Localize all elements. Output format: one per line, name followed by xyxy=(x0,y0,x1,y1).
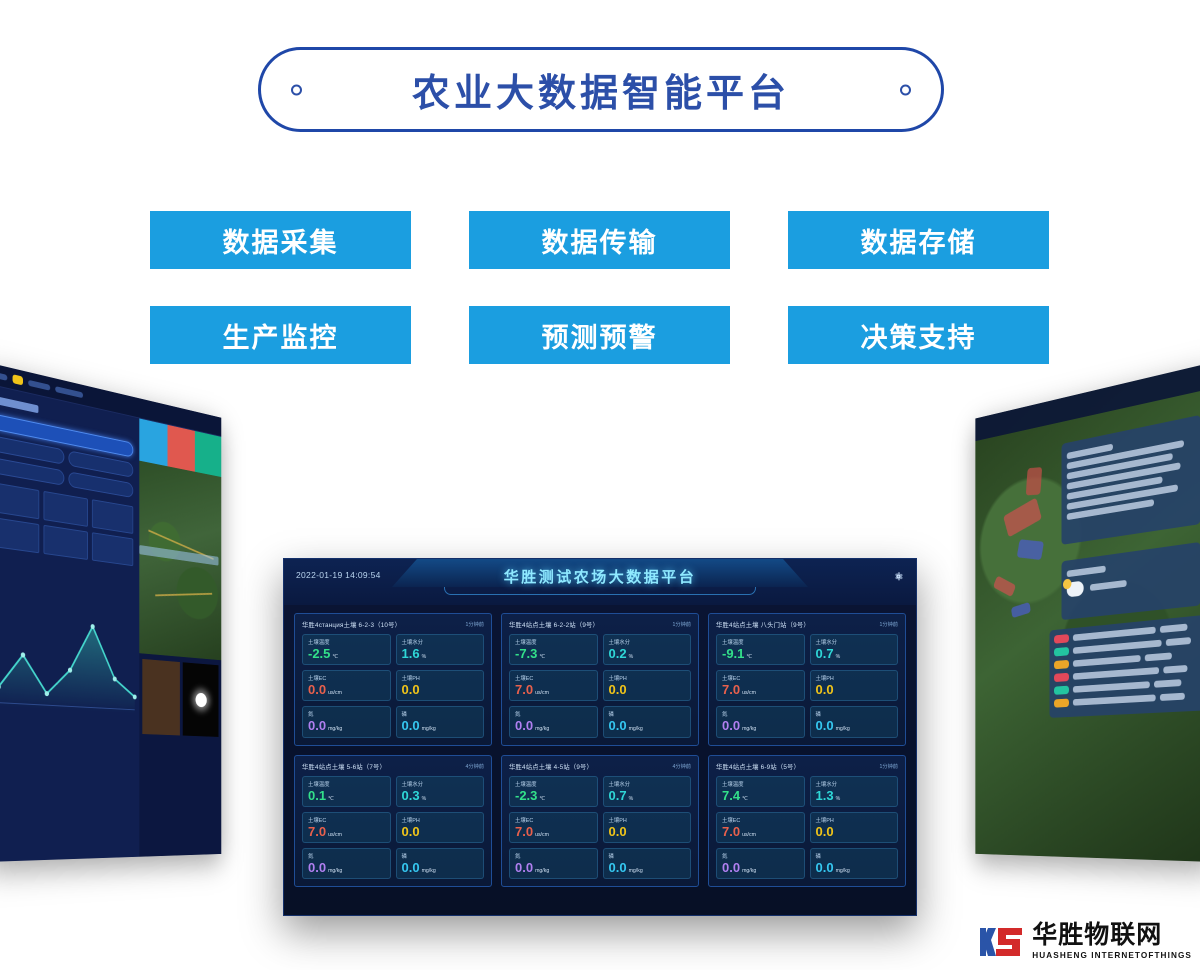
sensor-card[interactable]: 华胜4站点土壤 4-5站（9号） 4分钟前 土壤温度 -2.3℃ 土壤水分 0.… xyxy=(501,755,699,888)
metric-value: 0.0 xyxy=(816,861,834,874)
sensor-card-header: 华胜4站点土壤 八头门站（9号） 1分钟前 xyxy=(716,620,898,629)
metric-soil-temperature: 土壤温度 -9.1℃ xyxy=(716,634,805,665)
metric-soil-temperature: 土壤温度 7.4℃ xyxy=(716,776,805,807)
metric-soil-ph: 土壤PH 0.0 xyxy=(810,812,899,843)
metric-value: 0.1 xyxy=(308,789,326,802)
sensor-card-name: 华胜4站点土壤 4-5站（9号） xyxy=(509,762,593,771)
metric-value: -2.3 xyxy=(515,789,537,802)
metric-value: -2.5 xyxy=(308,647,330,660)
metric-phosphorus: 磷 0.0mg/kg xyxy=(603,848,692,879)
sensor-metrics: 土壤温度 -7.3℃ 土壤水分 0.2% 土壤EC 7.0us/cm 土壤P xyxy=(509,634,691,738)
gear-icon[interactable] xyxy=(893,571,904,582)
camera-thumb[interactable] xyxy=(183,662,219,737)
metric-value: -7.3 xyxy=(515,647,537,660)
sensor-card-header: 华胜4站点土壤 4-5站（9号） 4分钟前 xyxy=(509,762,691,771)
map-plot-parcel xyxy=(1026,467,1043,496)
metric-value: 0.0 xyxy=(722,719,740,732)
trend-chart-svg xyxy=(0,591,138,717)
sensor-card-time: 4分钟前 xyxy=(673,763,691,770)
metric-value: 7.0 xyxy=(722,825,740,838)
metric-phosphorus: 磷 0.0mg/kg xyxy=(810,706,899,737)
metric-unit: mg/kg xyxy=(535,727,549,732)
metric-unit: % xyxy=(629,655,634,660)
metric-soil-ec: 土壤EC 7.0us/cm xyxy=(716,670,805,701)
left-kpi-red xyxy=(168,425,195,472)
metric-value: 0.7 xyxy=(816,647,834,660)
screens-composition: 2022-01-19 14:09:54 华胜测试农场大数据平台 华胜4станц… xyxy=(0,352,1200,970)
metric-label: 氮 xyxy=(515,710,592,718)
sensor-card[interactable]: 华胜4站点土壤 6-9站（5号） 1分钟前 土壤温度 7.4℃ 土壤水分 1.3… xyxy=(708,755,906,888)
metric-label: 土壤PH xyxy=(609,674,686,682)
metric-label: 磷 xyxy=(402,852,479,860)
metric-unit: mg/kg xyxy=(535,869,549,874)
metric-value: 7.0 xyxy=(515,825,533,838)
metric-unit: ℃ xyxy=(539,655,545,660)
metric-unit: % xyxy=(422,797,427,802)
metric-unit: us/cm xyxy=(328,691,342,696)
left-screen-body xyxy=(0,384,221,862)
right-screen-alarm-list-card xyxy=(1049,615,1200,718)
sensor-card[interactable]: 华胜4станция土壤 6-2-3（10号） 1分钟前 土壤温度 -2.5℃ … xyxy=(294,613,492,746)
metric-unit: us/cm xyxy=(535,691,549,696)
metric-label: 磷 xyxy=(609,852,686,860)
metric-soil-temperature: 土壤温度 0.1℃ xyxy=(302,776,391,807)
dashboard-header: 2022-01-19 14:09:54 华胜测试农场大数据平台 xyxy=(284,559,916,605)
left-topbar-chip xyxy=(0,371,7,380)
sensor-card[interactable]: 华胜4站点土壤 5-6站（7号） 4分钟前 土壤温度 0.1℃ 土壤水分 0.3… xyxy=(294,755,492,888)
metric-soil-moisture: 土壤水分 0.7% xyxy=(810,634,899,665)
metric-soil-ph: 土壤PH 0.0 xyxy=(396,670,485,701)
metric-soil-moisture: 土壤水分 0.3% xyxy=(396,776,485,807)
sensor-card[interactable]: 华胜4站点土壤 八头门站（9号） 1分钟前 土壤温度 -9.1℃ 土壤水分 0.… xyxy=(708,613,906,746)
sensor-card-time: 4分钟前 xyxy=(466,763,484,770)
logo-text-block: 华胜物联网 HUASHENG INTERNETOFTHINGS xyxy=(1032,923,1192,960)
metric-soil-moisture: 土壤水分 0.7% xyxy=(603,776,692,807)
metric-value: 0.0 xyxy=(515,719,533,732)
metric-unit: mg/kg xyxy=(742,727,756,732)
metric-label: 氮 xyxy=(308,852,385,860)
camera-thumb[interactable] xyxy=(142,659,180,735)
metric-soil-ec: 土壤EC 7.0us/cm xyxy=(509,670,598,701)
metric-soil-ph: 土壤PH 0.0 xyxy=(603,670,692,701)
metric-unit: mg/kg xyxy=(836,869,850,874)
metric-soil-ec: 土壤EC 7.0us/cm xyxy=(509,812,598,843)
metric-unit: mg/kg xyxy=(328,869,342,874)
left-topbar-chip xyxy=(28,379,50,390)
metric-phosphorus: 磷 0.0mg/kg xyxy=(396,848,485,879)
metric-value: 1.3 xyxy=(816,789,834,802)
metric-soil-moisture: 土壤水分 1.6% xyxy=(396,634,485,665)
left-screen-sidepanel xyxy=(0,384,139,862)
left-topbar-chip xyxy=(55,386,83,398)
left-topbar-highlight xyxy=(13,374,23,385)
metric-unit: mg/kg xyxy=(629,727,643,732)
huasheng-logo-icon xyxy=(978,924,1024,960)
metric-label: 氮 xyxy=(515,852,592,860)
metric-phosphorus: 磷 0.0mg/kg xyxy=(810,848,899,879)
metric-label: 土壤温度 xyxy=(308,780,385,788)
metric-unit: mg/kg xyxy=(422,869,436,874)
weather-cloud-sun-icon xyxy=(1067,581,1084,598)
left-screen-map[interactable] xyxy=(139,461,221,661)
metric-value: 0.0 xyxy=(609,825,627,838)
metric-label: 土壤水分 xyxy=(816,780,893,788)
metric-soil-moisture: 土壤水分 0.2% xyxy=(603,634,692,665)
map-plot-parcel xyxy=(1017,539,1044,560)
sensor-card-header: 华胜4站点土壤 6-9站（5号） 1分钟前 xyxy=(716,762,898,771)
metric-soil-ec: 土壤EC 0.0us/cm xyxy=(302,670,391,701)
metric-label: 土壤温度 xyxy=(722,780,799,788)
sensor-metrics: 土壤温度 -9.1℃ 土壤水分 0.7% 土壤EC 7.0us/cm 土壤P xyxy=(716,634,898,738)
metric-unit: us/cm xyxy=(535,833,549,838)
metric-value: 7.4 xyxy=(722,789,740,802)
metric-value: 0.0 xyxy=(816,825,834,838)
metric-value: 1.6 xyxy=(402,647,420,660)
metric-unit: mg/kg xyxy=(328,727,342,732)
metric-soil-ph: 土壤PH 0.0 xyxy=(396,812,485,843)
metric-soil-ec: 土壤EC 7.0us/cm xyxy=(716,812,805,843)
sensor-metrics: 土壤温度 0.1℃ 土壤水分 0.3% 土壤EC 7.0us/cm 土壤PH xyxy=(302,776,484,880)
metric-unit: % xyxy=(836,655,841,660)
metric-value: 0.0 xyxy=(402,861,420,874)
metric-soil-ph: 土壤PH 0.0 xyxy=(810,670,899,701)
metric-unit: % xyxy=(629,797,634,802)
metric-value: 0.3 xyxy=(402,789,420,802)
metric-value: 0.0 xyxy=(816,683,834,696)
left-kpi-green xyxy=(195,431,221,477)
left-kpi-blue xyxy=(139,418,167,466)
metric-value: 0.0 xyxy=(609,861,627,874)
metric-value: 0.0 xyxy=(402,719,420,732)
metric-value: 0.0 xyxy=(816,719,834,732)
left-panel-tile[interactable] xyxy=(44,525,88,560)
metric-unit: ℃ xyxy=(746,655,752,660)
metric-label: 土壤水分 xyxy=(402,780,479,788)
sensor-metrics: 土壤温度 -2.5℃ 土壤水分 1.6% 土壤EC 0.0us/cm 土壤P xyxy=(302,634,484,738)
metric-unit: us/cm xyxy=(328,833,342,838)
metric-label: 土壤水分 xyxy=(402,638,479,646)
metric-value: 0.0 xyxy=(308,719,326,732)
metric-phosphorus: 磷 0.0mg/kg xyxy=(396,706,485,737)
sensor-metrics: 土壤温度 7.4℃ 土壤水分 1.3% 土壤EC 7.0us/cm 土壤PH xyxy=(716,776,898,880)
pill-dot-right-icon xyxy=(900,84,911,95)
left-panel-tile[interactable] xyxy=(0,482,40,519)
feature-row-1: 数据采集 数据传输 数据存储 xyxy=(150,211,1050,269)
left-panel-tile[interactable] xyxy=(0,517,40,553)
logo-text-en: HUASHENG INTERNETOFTHINGS xyxy=(1032,951,1192,960)
metric-value: 0.7 xyxy=(609,789,627,802)
metric-value: 0.0 xyxy=(402,825,420,838)
metric-label: 土壤PH xyxy=(816,674,893,682)
map-plot-parcel xyxy=(1003,497,1042,537)
metric-unit: ℃ xyxy=(332,655,338,660)
metric-value: 0.0 xyxy=(722,861,740,874)
logo-text-cn: 华胜物联网 xyxy=(1032,923,1192,948)
dashboard-header-underline xyxy=(444,587,756,595)
left-map-label-banner xyxy=(139,545,218,566)
sensor-card[interactable]: 华胜4站点土壤 6-2-2站（9号） 1分钟前 土壤温度 -7.3℃ 土壤水分 … xyxy=(501,613,699,746)
metric-label: 土壤EC xyxy=(722,816,799,824)
sensor-card-header: 华胜4站点土壤 5-6站（7号） 4分钟前 xyxy=(302,762,484,771)
metric-unit: us/cm xyxy=(742,691,756,696)
metric-label: 土壤水分 xyxy=(609,780,686,788)
metric-nitrogen: 氮 0.0mg/kg xyxy=(509,706,598,737)
sensor-card-time: 1分钟前 xyxy=(673,621,691,628)
metric-value: 0.2 xyxy=(609,647,627,660)
pill-dot-left-icon xyxy=(291,84,302,95)
map-plot-parcel xyxy=(993,575,1016,597)
metric-unit: ℃ xyxy=(539,797,545,802)
metric-value: 0.0 xyxy=(515,861,533,874)
metric-unit: mg/kg xyxy=(836,727,850,732)
left-camera-strip xyxy=(139,659,221,741)
map-road xyxy=(155,592,212,595)
sensor-card-name: 华胜4станция土壤 6-2-3（10号） xyxy=(302,620,401,629)
metric-label: 土壤温度 xyxy=(722,638,799,646)
left-screen-mockup xyxy=(0,362,221,862)
left-screen-main xyxy=(139,418,221,856)
metric-label: 土壤EC xyxy=(722,674,799,682)
metric-unit: us/cm xyxy=(742,833,756,838)
metric-label: 土壤EC xyxy=(515,674,592,682)
metric-soil-ph: 土壤PH 0.0 xyxy=(603,812,692,843)
metric-label: 土壤水分 xyxy=(816,638,893,646)
metric-value: 0.0 xyxy=(308,861,326,874)
left-panel-heading xyxy=(0,396,38,414)
metric-label: 土壤PH xyxy=(402,816,479,824)
center-dashboard: 2022-01-19 14:09:54 华胜测试农场大数据平台 华胜4станц… xyxy=(283,558,917,916)
sensor-card-time: 1分钟前 xyxy=(880,763,898,770)
metric-label: 氮 xyxy=(308,710,385,718)
metric-unit: % xyxy=(422,655,427,660)
metric-label: 磷 xyxy=(609,710,686,718)
feature-button-data-collection[interactable]: 数据采集 xyxy=(150,211,411,269)
feature-button-data-transmission[interactable]: 数据传输 xyxy=(469,211,730,269)
metric-phosphorus: 磷 0.0mg/kg xyxy=(603,706,692,737)
metric-nitrogen: 氮 0.0mg/kg xyxy=(716,706,805,737)
metric-unit: mg/kg xyxy=(742,869,756,874)
brand-logo: 华胜物联网 HUASHENG INTERNETOFTHINGS xyxy=(978,923,1192,960)
metric-label: 氮 xyxy=(722,710,799,718)
left-panel-tile-grid xyxy=(0,482,133,566)
sensor-card-name: 华胜4站点土壤 八头门站（9号） xyxy=(716,620,810,629)
metric-label: 磷 xyxy=(816,852,893,860)
metric-label: 土壤EC xyxy=(308,674,385,682)
metric-label: 土壤温度 xyxy=(515,638,592,646)
sensor-card-time: 1分钟前 xyxy=(466,621,484,628)
metric-value: 7.0 xyxy=(722,683,740,696)
metric-nitrogen: 氮 0.0mg/kg xyxy=(302,848,391,879)
metric-unit: mg/kg xyxy=(629,869,643,874)
sensor-card-header: 华胜4станция土壤 6-2-3（10号） 1分钟前 xyxy=(302,620,484,629)
sensor-metrics: 土壤温度 -2.3℃ 土壤水分 0.7% 土壤EC 7.0us/cm 土壤P xyxy=(509,776,691,880)
right-screen-mockup xyxy=(975,362,1200,862)
metric-unit: mg/kg xyxy=(422,727,436,732)
metric-label: 土壤PH xyxy=(609,816,686,824)
metric-unit: ℃ xyxy=(742,797,748,802)
metric-soil-temperature: 土壤温度 -2.5℃ xyxy=(302,634,391,665)
metric-unit: % xyxy=(836,797,841,802)
metric-value: -9.1 xyxy=(722,647,744,660)
metric-soil-temperature: 土壤温度 -2.3℃ xyxy=(509,776,598,807)
metric-value: 0.0 xyxy=(308,683,326,696)
metric-label: 磷 xyxy=(402,710,479,718)
left-panel-tile[interactable] xyxy=(44,491,88,527)
metric-label: 磷 xyxy=(816,710,893,718)
metric-label: 氮 xyxy=(722,852,799,860)
page-title: 农业大数据智能平台 xyxy=(412,62,790,117)
metric-label: 土壤水分 xyxy=(609,638,686,646)
metric-nitrogen: 氮 0.0mg/kg xyxy=(302,706,391,737)
map-plot-parcel xyxy=(1011,602,1031,618)
sensor-card-name: 华胜4站点土壤 5-6站（7号） xyxy=(302,762,386,771)
metric-label: 土壤EC xyxy=(515,816,592,824)
metric-value: 0.0 xyxy=(609,683,627,696)
metric-soil-moisture: 土壤水分 1.3% xyxy=(810,776,899,807)
metric-value: 7.0 xyxy=(515,683,533,696)
metric-value: 0.0 xyxy=(402,683,420,696)
sensor-card-name: 华胜4站点土壤 6-2-2站（9号） xyxy=(509,620,599,629)
metric-label: 土壤温度 xyxy=(308,638,385,646)
metric-soil-temperature: 土壤温度 -7.3℃ xyxy=(509,634,598,665)
metric-nitrogen: 氮 0.0mg/kg xyxy=(509,848,598,879)
left-panel-tile[interactable] xyxy=(92,499,134,534)
dashboard-title: 华胜测试农场大数据平台 xyxy=(284,566,916,587)
metric-label: 土壤温度 xyxy=(515,780,592,788)
camera-light-icon xyxy=(195,693,206,708)
feature-button-data-storage[interactable]: 数据存储 xyxy=(788,211,1049,269)
metric-nitrogen: 氮 0.0mg/kg xyxy=(716,848,805,879)
page-title-pill: 农业大数据智能平台 xyxy=(258,47,944,132)
metric-label: 土壤PH xyxy=(816,816,893,824)
metric-value: 7.0 xyxy=(308,825,326,838)
left-panel-trend-chart xyxy=(0,591,133,717)
left-panel-tile[interactable] xyxy=(92,532,134,566)
sensor-card-header: 华胜4站点土壤 6-2-2站（9号） 1分钟前 xyxy=(509,620,691,629)
metric-label: 土壤EC xyxy=(308,816,385,824)
sensor-card-grid: 华胜4станция土壤 6-2-3（10号） 1分钟前 土壤温度 -2.5℃ … xyxy=(284,605,916,897)
sensor-card-name: 华胜4站点土壤 6-9站（5号） xyxy=(716,762,800,771)
metric-label: 土壤PH xyxy=(402,674,479,682)
metric-soil-ec: 土壤EC 7.0us/cm xyxy=(302,812,391,843)
metric-value: 0.0 xyxy=(609,719,627,732)
page-root: 农业大数据智能平台 数据采集 数据传输 数据存储 生产监控 预测预警 决策支持 xyxy=(0,0,1200,970)
metric-unit: ℃ xyxy=(328,797,334,802)
sensor-card-time: 1分钟前 xyxy=(880,621,898,628)
